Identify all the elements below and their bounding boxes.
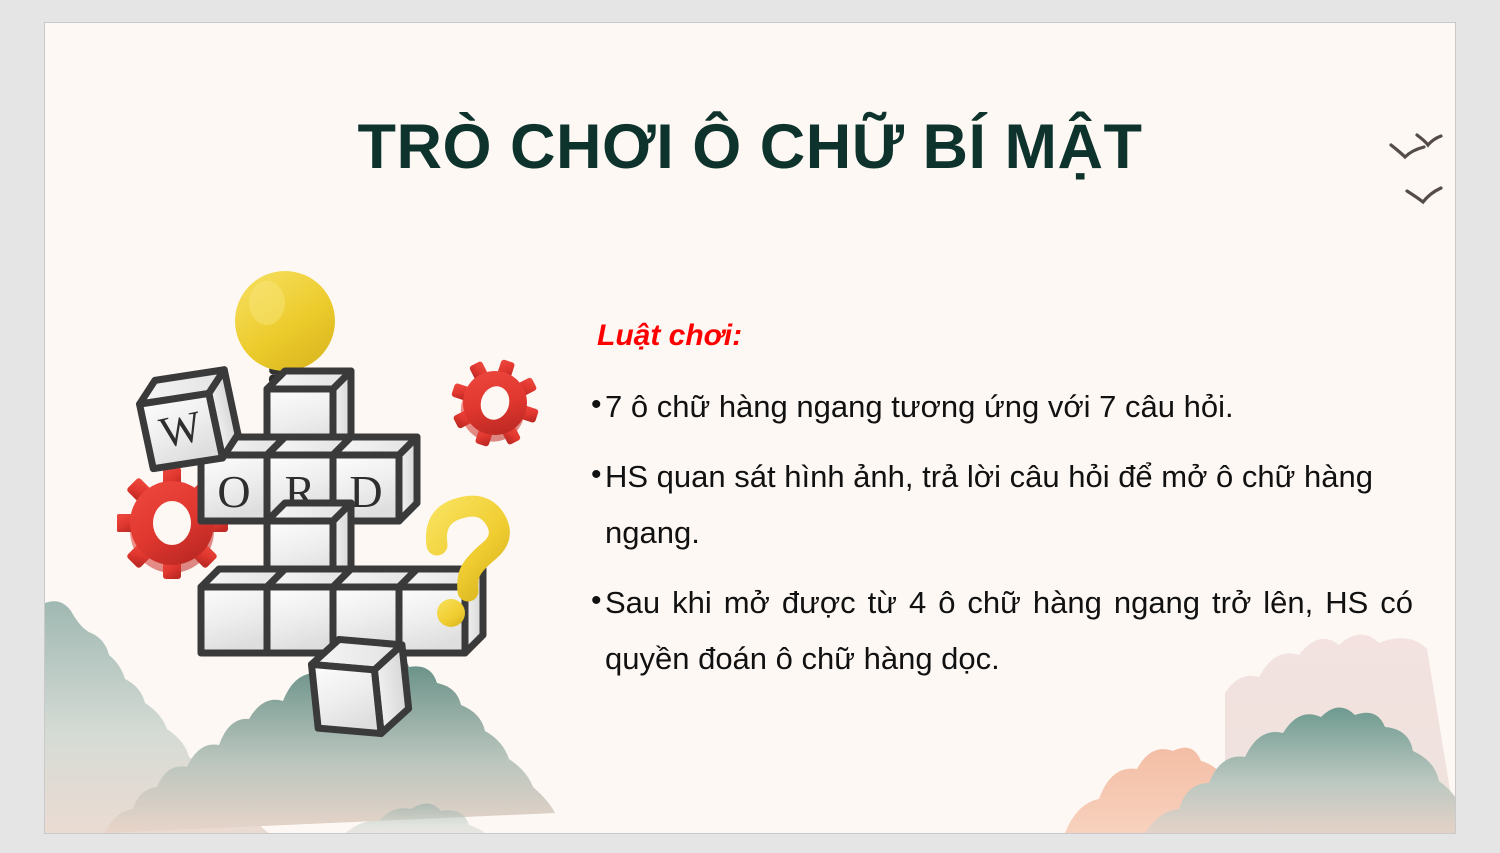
list-item: • 7 ô chữ hàng ngang tương ứng với 7 câu…	[553, 379, 1413, 435]
rules-panel: Luật chơi: • 7 ô chữ hàng ngang tương ứn…	[553, 319, 1413, 701]
bullet-icon: •	[553, 379, 605, 431]
list-item-text: Sau khi mở được từ 4 ô chữ hàng ngang tr…	[605, 575, 1413, 687]
birds-decoration	[1355, 113, 1456, 233]
bird-icon	[1417, 135, 1441, 145]
crossword-cube-loose	[309, 633, 411, 740]
bird-icon	[1391, 145, 1424, 157]
list-item: • HS quan sát hình ảnh, trả lời câu hỏi …	[553, 449, 1413, 561]
list-item-text: HS quan sát hình ảnh, trả lời câu hỏi để…	[605, 449, 1413, 561]
bullet-icon: •	[553, 575, 605, 627]
bullet-icon: •	[553, 449, 605, 501]
cube-letter: O	[217, 466, 250, 517]
crossword-blocks-illustration: O R D	[117, 263, 557, 743]
crossword-cube-w: W	[135, 366, 242, 473]
list-item-text: 7 ô chữ hàng ngang tương ứng với 7 câu h…	[605, 379, 1413, 435]
rules-heading: Luật chơi:	[553, 319, 1413, 353]
page-title: TRÒ CHƠI Ô CHỮ BÍ MẬT	[45, 111, 1455, 183]
gear-icon	[440, 348, 551, 459]
slide: TRÒ CHƠI Ô CHỮ BÍ MẬT	[44, 22, 1456, 834]
list-item: • Sau khi mở được từ 4 ô chữ hàng ngang …	[553, 575, 1413, 687]
bird-icon	[1407, 188, 1441, 202]
